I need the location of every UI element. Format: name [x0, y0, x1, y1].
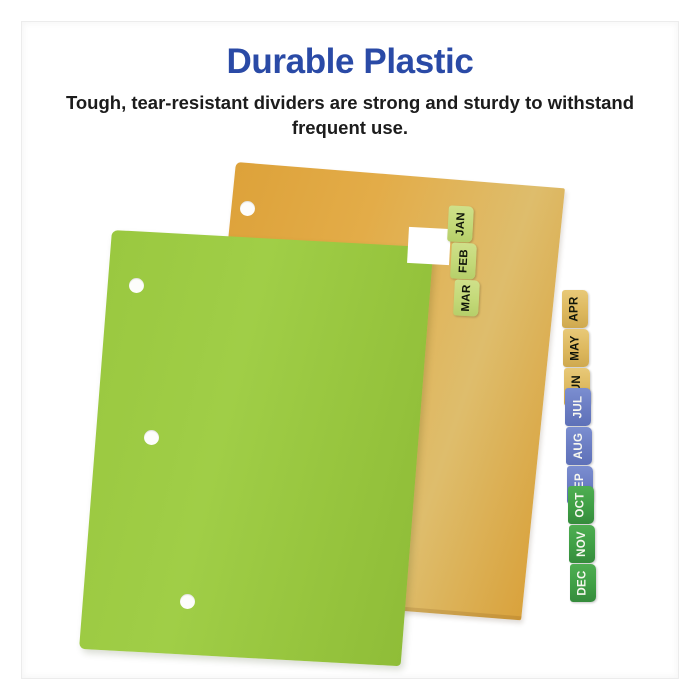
tab-label-dec: DEC	[577, 570, 589, 595]
tab-apr[interactable]: APR	[562, 290, 588, 328]
tab-label-mar: MAR	[460, 284, 473, 312]
page-subtitle: Tough, tear-resistant dividers are stron…	[60, 91, 640, 140]
punch-hole	[180, 594, 195, 609]
tab-label-nov: NOV	[576, 531, 588, 557]
tab-label-aug: AUG	[573, 433, 585, 459]
tab-label-apr: APR	[569, 296, 581, 321]
product-image: Durable Plastic Tough, tear-resistant di…	[0, 0, 700, 700]
tab-mar[interactable]: MAR	[453, 279, 480, 316]
heading-block: Durable Plastic Tough, tear-resistant di…	[0, 42, 700, 140]
tab-label-oct: OCT	[575, 492, 587, 517]
tab-may[interactable]: MAY	[563, 329, 589, 367]
tab-feb[interactable]: FEB	[450, 242, 477, 279]
tab-label-jan: JAN	[454, 212, 467, 237]
tab-jan[interactable]: JAN	[447, 205, 474, 242]
product-photo: APR MAY JUN JUL AUG SEP OCT NOV DEC	[0, 150, 700, 670]
tab-label-may: MAY	[570, 335, 582, 360]
tab-jul[interactable]: JUL	[565, 388, 591, 426]
punch-hole	[240, 201, 255, 216]
punch-hole	[129, 278, 144, 293]
tab-oct[interactable]: OCT	[568, 486, 594, 524]
tab-aug[interactable]: AUG	[566, 427, 592, 465]
punch-hole	[144, 430, 159, 445]
tab-dec[interactable]: DEC	[570, 564, 596, 602]
tab-label-jul: JUL	[572, 396, 584, 419]
page-title: Durable Plastic	[0, 42, 700, 81]
green-divider-sheet	[79, 230, 433, 666]
tab-nov[interactable]: NOV	[569, 525, 595, 563]
tab-label-feb: FEB	[457, 249, 470, 274]
